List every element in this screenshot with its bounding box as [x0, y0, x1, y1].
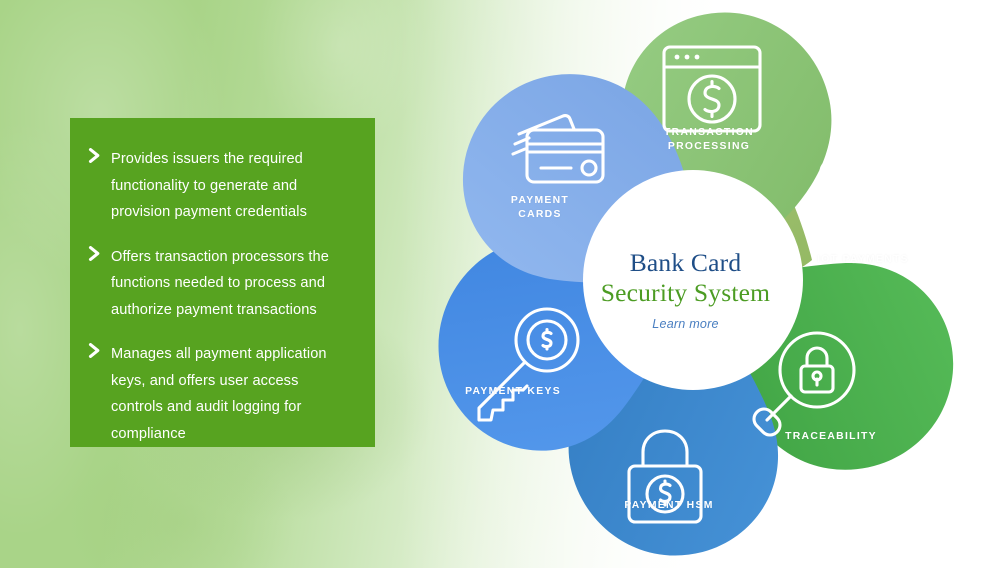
petal-label-payment-cards: PAYMENT CARDS [470, 194, 610, 221]
smartwatch-dollar-icon [821, 141, 894, 251]
bullet-text-3: Manages all payment application keys, an… [111, 341, 353, 447]
center-title-line1: Bank Card [568, 248, 803, 278]
infographic-stage: Provides issuers the required functional… [0, 0, 1000, 568]
bullet-item-3: Manages all payment application keys, an… [88, 341, 353, 447]
chevron-right-icon [88, 148, 104, 163]
petal-label-iot-payments: IOT PAYMENTS [790, 253, 936, 267]
bullet-text-2: Offers transaction processors the functi… [111, 244, 353, 324]
center-title-line2: Security System [568, 277, 803, 308]
petal-label-payment-hsm: PAYMENT HSM [596, 499, 742, 513]
bullet-text-1: Provides issuers the required functional… [111, 146, 353, 226]
petal-label-transaction-processing: TRANSACTION PROCESSING [634, 126, 784, 153]
chevron-right-icon [88, 246, 104, 261]
features-panel: Provides issuers the required functional… [70, 118, 375, 447]
learn-more-link[interactable]: Learn more [568, 317, 803, 331]
petal-label-payment-keys: PAYMENT KEYS [440, 385, 586, 399]
center-text-block: Bank Card Security System Learn more [568, 248, 803, 331]
petal-label-traceability: TRACEABILITY [758, 430, 904, 444]
chevron-right-icon [88, 343, 104, 358]
bullet-item-1: Provides issuers the required functional… [88, 146, 353, 226]
bullet-item-2: Offers transaction processors the functi… [88, 244, 353, 324]
